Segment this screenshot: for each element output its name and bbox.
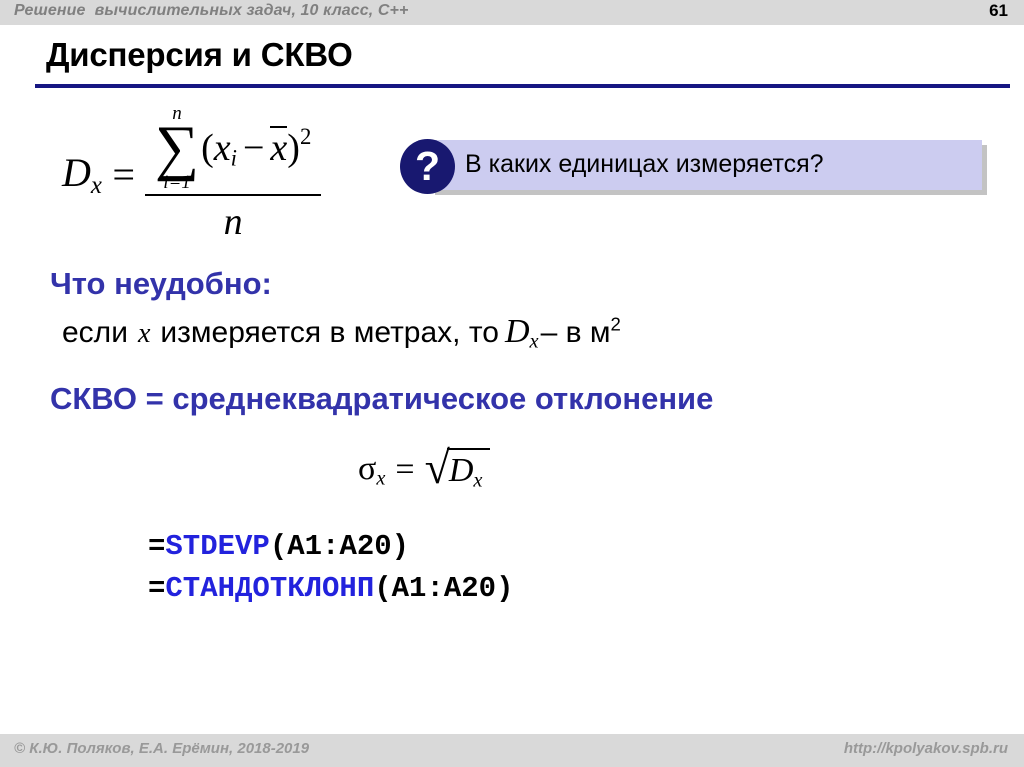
heading-inconvenient: Что неудобно: (50, 266, 272, 302)
footer-url[interactable]: http://kpolyakov.spb.ru (844, 740, 1008, 757)
sigma-lhs: σx (358, 450, 385, 491)
sum-body: (xi−x)2 (201, 124, 311, 172)
variance-numerator: n ∑ i=1 (xi−x)2 (145, 104, 321, 195)
line-meters-dispersion-symbol: Dx (499, 313, 541, 350)
line-meters-units-power: 2 (611, 313, 621, 334)
question-mark-icon: ? (400, 139, 455, 194)
course-label: Решение вычислительных задач, 10 класс, … (14, 2, 408, 20)
summation-operator: n ∑ i=1 (155, 104, 199, 193)
sigma-equals-sign: = (385, 451, 424, 489)
code-ru-function: СТАНДОТКЛОНП (165, 572, 374, 605)
footer-copyright: © К.Ю. Поляков, Е.А. Ерёмин, 2018-2019 (14, 740, 309, 757)
line-meters-variable: x (128, 318, 160, 349)
code-en-args: (A1:A20) (270, 530, 409, 563)
line-meters-middle: измеряется в метрах, то (160, 316, 499, 349)
variance-equals-sign: = (108, 151, 145, 198)
variance-fraction: n ∑ i=1 (xi−x)2 n (145, 104, 321, 245)
code-ru-equals: = (148, 572, 165, 605)
line-meters-dash: – (541, 316, 558, 349)
code-ru-args: (A1:A20) (374, 572, 513, 605)
code-en-equals: = (148, 530, 165, 563)
square-root-expression: √ Dx (425, 448, 491, 493)
page-number: 61 (989, 1, 1008, 21)
code-en-function: STDEVP (165, 530, 269, 563)
line-meters-before: если (62, 316, 128, 349)
formula-line-english: =STDEVP(A1:A20) (148, 530, 409, 563)
sigma-summation-icon: ∑ (155, 123, 199, 174)
line-units-explanation: еслиxизмеряется в метрах, тоDx– в м2 (62, 313, 621, 354)
line-meters-units: в м (566, 316, 611, 349)
page-title: Дисперсия и СКВО (46, 36, 353, 74)
title-underline-rule (35, 84, 1010, 88)
heading-skvo-definition: СКВО = среднеквадратическое отклонение (50, 381, 713, 417)
sigma-formula: σx = √ Dx (358, 448, 490, 493)
variance-lhs: Dx (62, 149, 108, 200)
question-callout-text: В каких единицах измеряется? (465, 150, 824, 179)
sum-lower-limit: i=1 (163, 173, 191, 192)
variance-denominator: n (224, 196, 243, 244)
formula-line-russian: =СТАНДОТКЛОНП(A1:A20) (148, 572, 513, 605)
variance-formula: Dx = n ∑ i=1 (xi−x)2 n (62, 104, 321, 244)
radicand: Dx (447, 448, 491, 493)
